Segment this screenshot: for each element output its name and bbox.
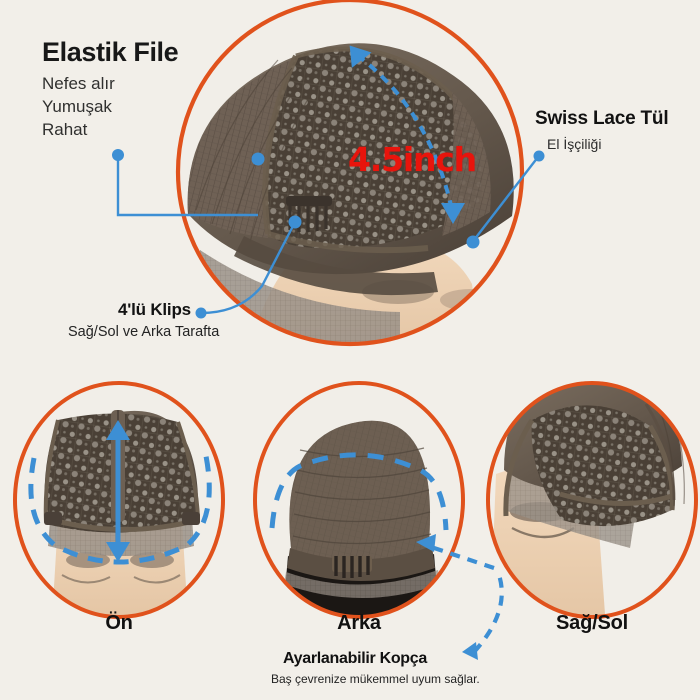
infographic-root: Elastik File Nefes alır Yumuşak Rahat Sw… xyxy=(0,0,700,700)
view-label-on: Ön xyxy=(19,612,219,635)
elastik-file-title: Elastik File xyxy=(42,38,178,66)
strap-label-arrowhead xyxy=(462,642,478,660)
elastik-file-line-1: Nefes alır xyxy=(42,73,178,96)
elastik-file-line-2: Yumuşak xyxy=(42,96,178,119)
klips-title: 4'lü Klips xyxy=(118,300,219,320)
swiss-lace-title: Swiss Lace Tül xyxy=(535,108,668,130)
measurement-label: 4.5inch xyxy=(348,140,476,179)
swiss-lace-leader-dot-end xyxy=(467,236,480,249)
back-view-photo xyxy=(250,380,470,624)
callout-klips: 4'lü Klips Sağ/Sol ve Arka Tarafta xyxy=(68,300,219,340)
callout-elastik-file: Elastik File Nefes alır Yumuşak Rahat xyxy=(42,38,178,141)
side-view-photo xyxy=(480,370,700,628)
elastik-file-leader-dot-start xyxy=(112,149,124,161)
elastik-file-line-3: Rahat xyxy=(42,119,178,142)
strap-callout-subtitle: Baş çevrenize mükemmel uyum sağlar. xyxy=(271,672,480,686)
strap-callout-title: Ayarlanabilir Kopça xyxy=(283,650,427,668)
swiss-lace-leader-dot-start xyxy=(534,151,545,162)
callout-swiss-lace: Swiss Lace Tül El İşçiliği xyxy=(535,108,668,152)
klips-leader-dot-end xyxy=(289,216,302,229)
view-label-arka: Arka xyxy=(259,612,459,635)
klips-line-1: Sağ/Sol ve Arka Tarafta xyxy=(68,324,219,340)
elastik-file-leader-dot-end xyxy=(252,153,265,166)
view-label-sag-sol: Sağ/Sol xyxy=(492,612,692,635)
swiss-lace-line-1: El İşçiliği xyxy=(547,136,668,152)
